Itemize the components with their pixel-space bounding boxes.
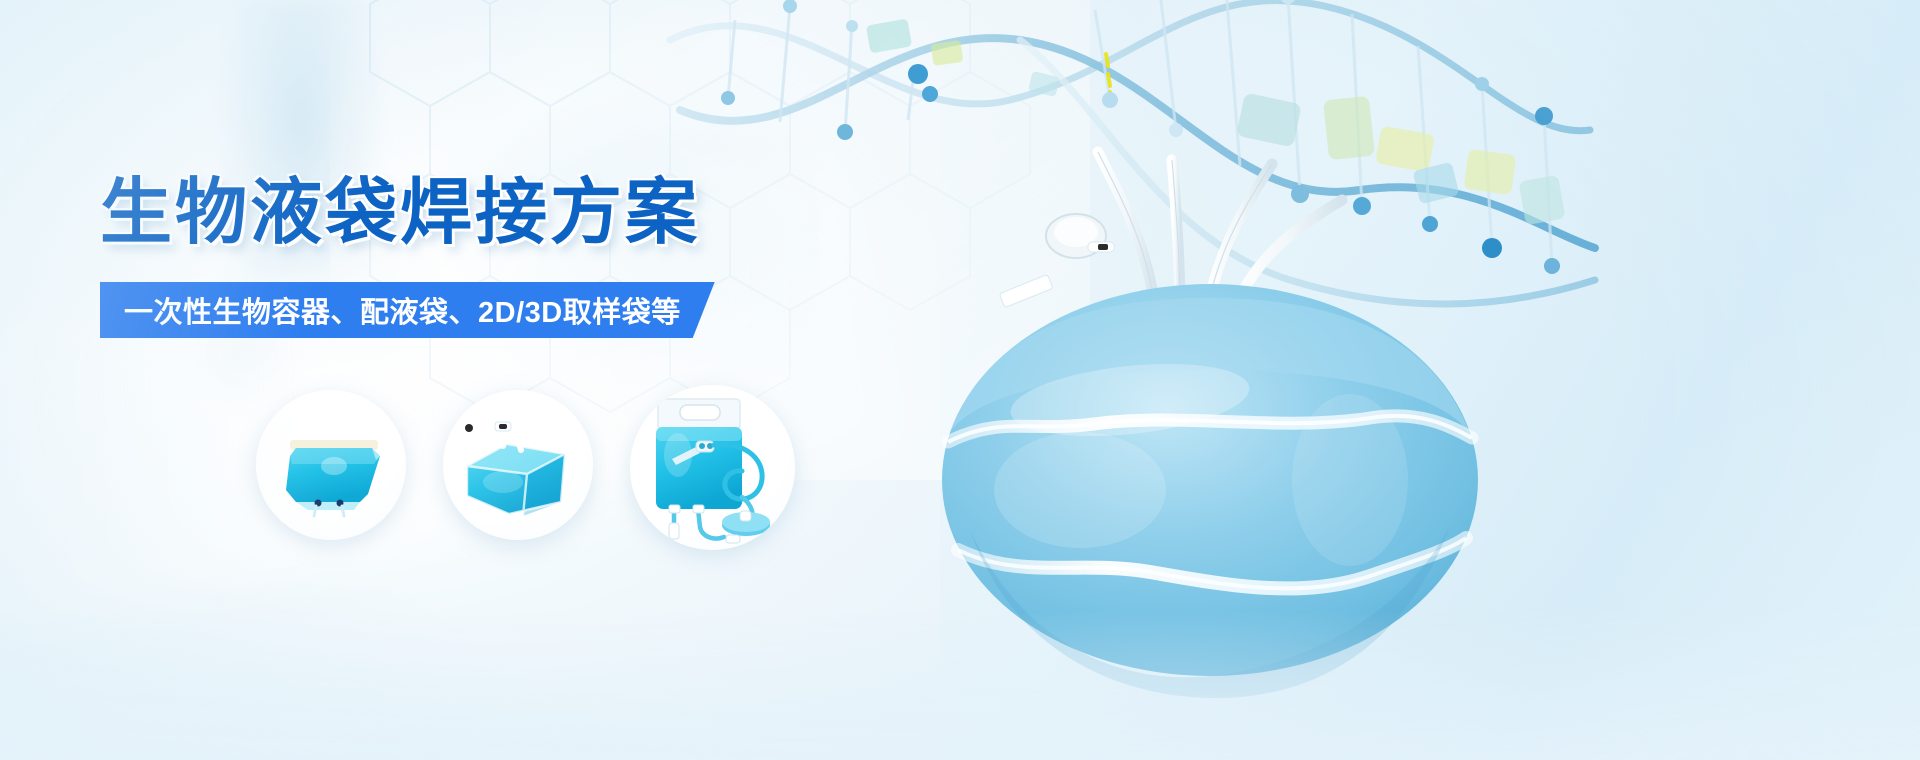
hero-banner: 生物液袋焊接方案 一次性生物容器、配液袋、2D/3D取样袋等 — [0, 0, 1920, 760]
bottom-fade-overlay — [0, 610, 1920, 760]
